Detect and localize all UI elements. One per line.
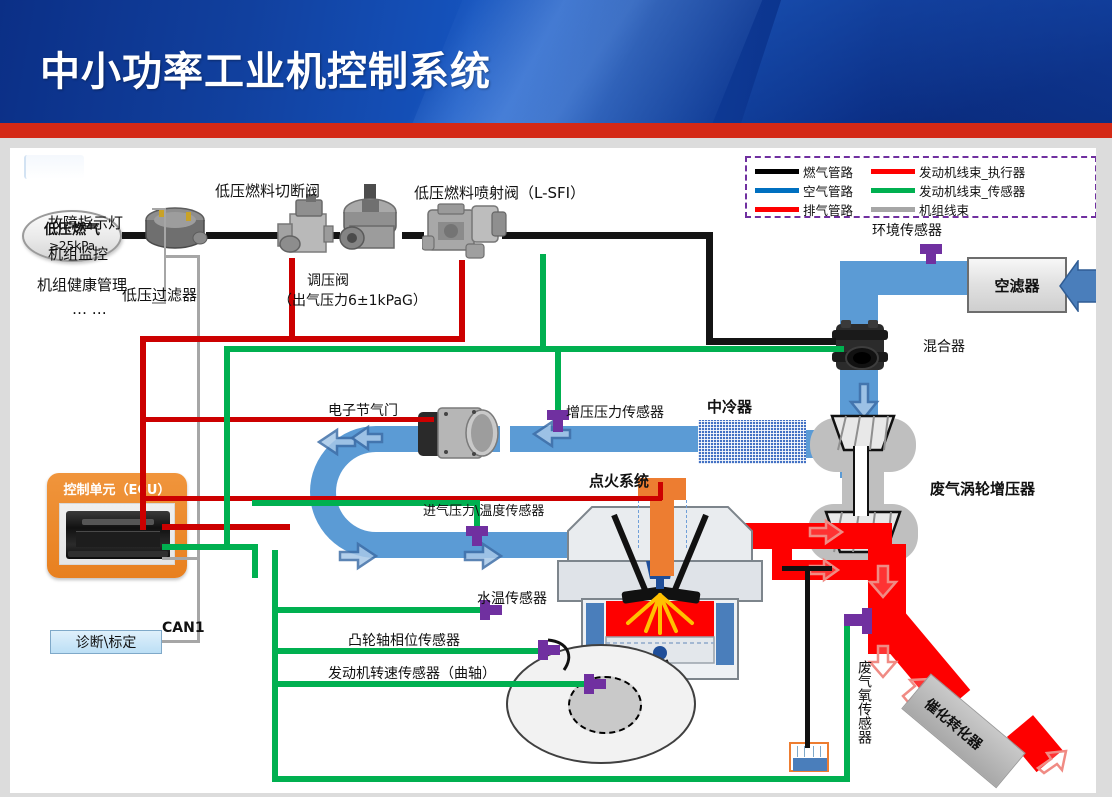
- wastegate-lever: [782, 566, 832, 571]
- slide-page: 中小功率工业机控制系统 燃气管路 发动机线束_执行器 空气管路 发动机线束_传感…: [0, 0, 1112, 797]
- banner-sheen-3: [880, 0, 1112, 123]
- label-genset-health: 机组健康管理: [37, 274, 127, 295]
- label-oxygen-sensor: 废气氧传感器: [856, 660, 872, 744]
- gas-line-filter-to-shutoff: [206, 232, 282, 239]
- label-turbocharger: 废气涡轮增压器: [930, 478, 1035, 499]
- label-fault-indicator: 故障指示灯: [48, 212, 123, 233]
- wastegate-rod: [805, 568, 810, 748]
- ignition-coil-dashline-right: [686, 500, 687, 548]
- ecu-module-photo: [59, 503, 175, 565]
- wastegate-spring-right: [813, 746, 821, 757]
- wastegate-diaphragm: [793, 758, 827, 771]
- label-boost-pressure-sensor: 增压压力传感器: [566, 402, 664, 422]
- air-pipe-intercooler-to-throttle: [510, 426, 706, 452]
- air-filter: 空滤器: [967, 257, 1067, 313]
- label-shutoff-valve: 低压燃料切断阀: [215, 180, 320, 201]
- sensor-wire-o2-branch: [272, 550, 278, 782]
- legend-swatch-actuator: [855, 162, 917, 181]
- legend-label-genset: 机组线束: [917, 200, 1027, 219]
- label-regulator-line1: 调压阀: [307, 270, 349, 290]
- legend-swatch-sensor: [855, 181, 917, 200]
- flywheel: [506, 644, 696, 764]
- label-mixer: 混合器: [923, 336, 965, 356]
- actuator-wire-to-injector: [140, 336, 465, 342]
- turbo-shaft: [853, 446, 869, 516]
- legend-swatch-exhaust: [753, 200, 801, 219]
- red-accent-bar: [0, 123, 1112, 138]
- label-ambient-sensor: 环境传感器: [872, 220, 942, 240]
- label-ignition-system: 点火系统: [589, 470, 649, 491]
- genset-harness-to-diag: [162, 640, 200, 643]
- decorative-smudge: [24, 155, 84, 179]
- label-genset-monitor: 机组监控: [48, 243, 108, 264]
- diagnostics-box[interactable]: 诊断\标定: [50, 630, 162, 654]
- legend: 燃气管路 发动机线束_执行器 空气管路 发动机线束_传感器 排气管路 机组线束: [745, 156, 1096, 218]
- diagram-canvas: 燃气管路 发动机线束_执行器 空气管路 发动机线束_传感器 排气管路 机组线束: [10, 148, 1096, 793]
- label-fuel-injector: 低压燃料喷射阀（L-SFI）: [414, 182, 585, 203]
- label-regulator-line2: （出气压力6±1kPaG）: [278, 290, 427, 310]
- ecu-module-connector: [76, 531, 160, 547]
- gas-line-to-mixer-vert: [706, 232, 713, 344]
- air-intake-arrow-icon: [1058, 260, 1096, 312]
- sensor-wire-water-temp: [272, 607, 488, 613]
- sensor-wire-o2-bottom: [272, 776, 850, 782]
- wastegate-spring-left: [797, 746, 805, 757]
- ecu-module-base: [68, 551, 168, 557]
- genset-harness-bracket-stub: [164, 255, 200, 258]
- label-engine-speed-sensor: 发动机转速传感器（曲轴）: [328, 663, 496, 683]
- low-pressure-shutoff-valve: [276, 192, 334, 264]
- legend-label-sensor: 发动机线束_传感器: [917, 181, 1027, 200]
- label-can1: CAN1: [162, 620, 205, 636]
- sensor-wire-o2-riser: [844, 616, 850, 782]
- genset-harness-to-ecu: [162, 557, 200, 560]
- label-ellipsis: … …: [72, 300, 107, 318]
- gas-line-into-mixer: [706, 338, 836, 345]
- electronic-throttle-body: [416, 406, 502, 462]
- label-intercooler: 中冷器: [707, 396, 752, 417]
- sensor-wire-injector-riser: [540, 254, 546, 352]
- legend-label-exhaust: 排气管路: [801, 200, 855, 219]
- legend-label-actuator: 发动机线束_执行器: [917, 162, 1027, 181]
- genset-harness-vert: [197, 255, 200, 643]
- label-water-temp-sensor: 水温传感器: [477, 588, 547, 608]
- sensor-wire-intake-branch: [252, 544, 258, 578]
- intercooler: [698, 420, 806, 464]
- actuator-wire-ignition-riser: [658, 482, 663, 500]
- legend-swatch-genset: [855, 200, 917, 219]
- fuel-injector: [422, 200, 508, 262]
- gas-line-injector-to-mixer-horiz: [502, 232, 712, 239]
- pressure-regulator: [336, 182, 406, 262]
- ecu-module-body: [66, 511, 170, 559]
- legend-swatch-gas: [753, 162, 801, 181]
- label-electronic-throttle: 电子节气门: [328, 400, 398, 420]
- label-low-pressure-filter: 低压过滤器: [122, 284, 197, 305]
- label-camshaft-phase-sensor: 凸轮轴相位传感器: [348, 630, 460, 650]
- sensor-wire-trunk-up: [224, 346, 230, 550]
- title-banner: 中小功率工业机控制系统: [0, 0, 1112, 123]
- legend-swatch-air: [753, 181, 801, 200]
- label-intake-pressure-temp-sensor: 进气压力\温度传感器: [423, 500, 544, 519]
- actuator-wire-injector-riser: [459, 260, 465, 342]
- legend-label-gas: 燃气管路: [801, 162, 855, 181]
- catalytic-converter-label: 催化转化器: [920, 694, 986, 754]
- sensor-wire-ecu-trunk: [162, 544, 252, 550]
- page-title: 中小功率工业机控制系统: [40, 39, 491, 97]
- legend-label-air: 空气管路: [801, 181, 855, 200]
- ignition-coil-dashline-left: [638, 500, 639, 548]
- sensor-wire-to-ambient: [224, 346, 844, 352]
